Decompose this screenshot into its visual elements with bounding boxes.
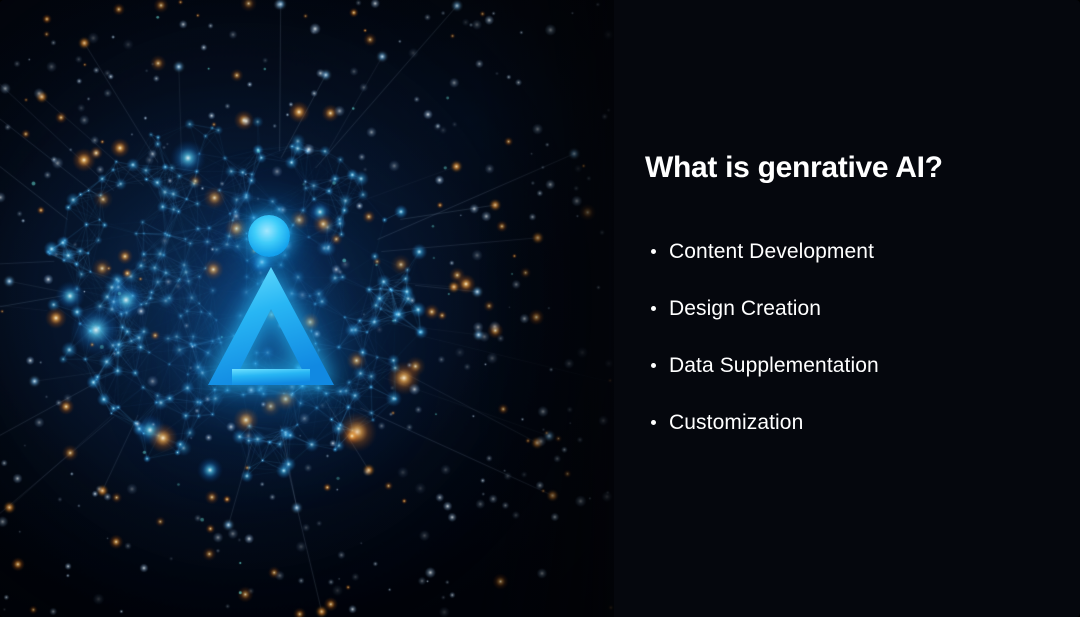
list-item-label: Design Creation — [669, 295, 821, 322]
list-item-label: Customization — [669, 409, 803, 436]
slide-title: What is genrative AI? — [645, 150, 943, 186]
bullet-dot-icon — [651, 420, 656, 425]
content-panel: What is genrative AI? Content Developmen… — [614, 0, 1080, 617]
list-item-label: Content Development — [669, 238, 874, 265]
list-item: Content Development — [645, 238, 1045, 295]
bullet-dot-icon — [651, 249, 656, 254]
ai-brain-network-image — [0, 0, 614, 617]
bullet-dot-icon — [651, 363, 656, 368]
bullet-dot-icon — [651, 306, 656, 311]
slide-root: What is genrative AI? Content Developmen… — [0, 0, 1080, 617]
neural-network-canvas — [0, 0, 614, 617]
list-item-label: Data Supplementation — [669, 352, 879, 379]
bullet-list: Content Development Design Creation Data… — [645, 238, 1045, 466]
list-item: Design Creation — [645, 295, 1045, 352]
list-item: Customization — [645, 409, 1045, 466]
list-item: Data Supplementation — [645, 352, 1045, 409]
